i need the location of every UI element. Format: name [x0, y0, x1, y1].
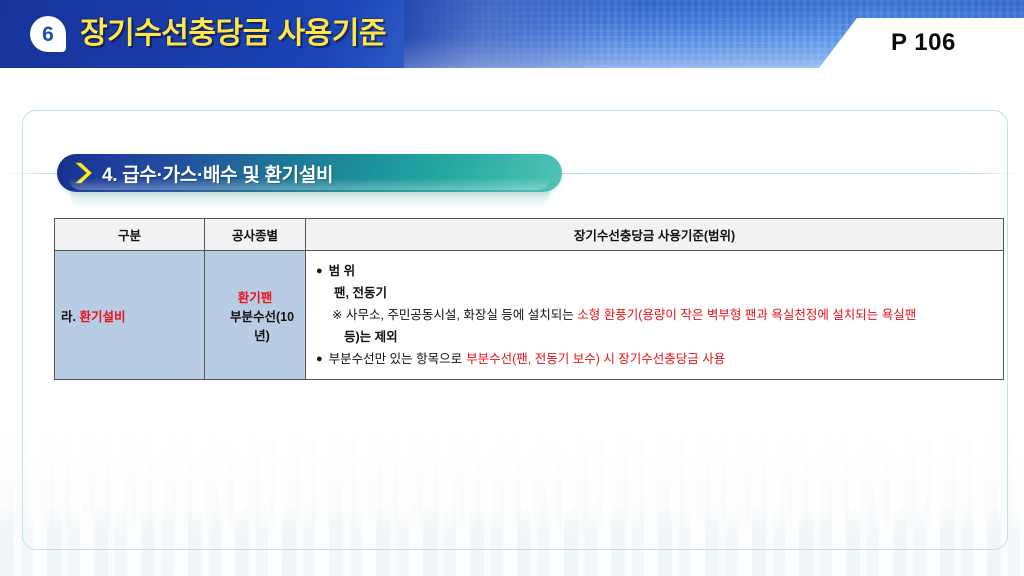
criteria-usage-rule: ● 부분수선만 있는 항목으로 부분수선(팬, 전동기 보수) 시 장기수선충당…: [316, 348, 995, 370]
page-title: 장기수선충당금 사용기준: [80, 8, 386, 60]
usage-criteria-table: 구분 공사종별 장기수선충당금 사용기준(범위) 라. 환기설비 환기팬 부분수…: [54, 218, 1004, 380]
section-header-pill: 4. 급수·가스·배수 및 환기설비: [57, 154, 562, 192]
note-text-red: 소형 환풍기(용량이 작은 벽부형 팬과 욕실천정에 설치되는 욕실팬: [577, 308, 916, 322]
bullet-filled-circle-icon: ●: [316, 260, 323, 282]
chapter-number-badge: 6: [30, 16, 66, 52]
slide-body: 4. 급수·가스·배수 및 환기설비 구분 공사종별 장기수선충당금 사용기준(…: [0, 68, 1024, 576]
note-marker-icon: ※: [332, 308, 342, 322]
section-pill-reflection: [70, 192, 550, 208]
usage-rule-black: 부분수선만 있는 항목으로: [329, 348, 462, 370]
usage-rule-red: 부분수선(팬, 전동기 보수) 시 장기수선충당금 사용: [466, 348, 725, 370]
criteria-note-continued: 등)는 제외: [316, 326, 995, 348]
chevron-right-icon: [75, 162, 92, 184]
page-number-text: P 106: [891, 29, 956, 57]
section-title-text: 4. 급수·가스·배수 및 환기설비: [102, 160, 333, 187]
chapter-number-text: 6: [42, 24, 54, 45]
slide-header-band: 6 장기수선충당금 사용기준 P 106: [0, 0, 1024, 68]
cell-category: 라. 환기설비: [55, 251, 205, 380]
table-header-criteria: 장기수선충당금 사용기준(범위): [306, 219, 1004, 251]
bullet-filled-circle-icon-2: ●: [316, 348, 323, 370]
note-text-black: 사무소, 주민공동시설, 화장실 등에 설치되는: [346, 308, 574, 322]
table-header-category: 구분: [55, 219, 205, 251]
table-header-work-type: 공사종별: [205, 219, 306, 251]
cell-criteria: ● 범 위 팬, 전동기 ※ 사무소, 주민공동시설, 화장실 등에 설치되는 …: [306, 251, 1004, 380]
criteria-scope-items: 팬, 전동기: [316, 282, 995, 304]
category-name: 환기설비: [79, 310, 125, 324]
table-row: 라. 환기설비 환기팬 부분수선(10년) ● 범 위 팬, 전동기 ※ 사: [55, 251, 1004, 380]
criteria-note: ※ 사무소, 주민공동시설, 화장실 등에 설치되는 소형 환풍기(용량이 작은…: [316, 304, 995, 326]
table-header-row: 구분 공사종별 장기수선충당금 사용기준(범위): [55, 219, 1004, 251]
category-prefix: 라.: [61, 310, 76, 324]
cell-work-type: 환기팬 부분수선(10년): [205, 251, 306, 380]
criteria-scope-label: 범 위: [329, 260, 355, 282]
criteria-scope-heading: ● 범 위: [316, 260, 995, 282]
work-type-primary: 환기팬: [211, 287, 299, 306]
work-type-secondary: 부분수선(10년): [211, 306, 299, 344]
